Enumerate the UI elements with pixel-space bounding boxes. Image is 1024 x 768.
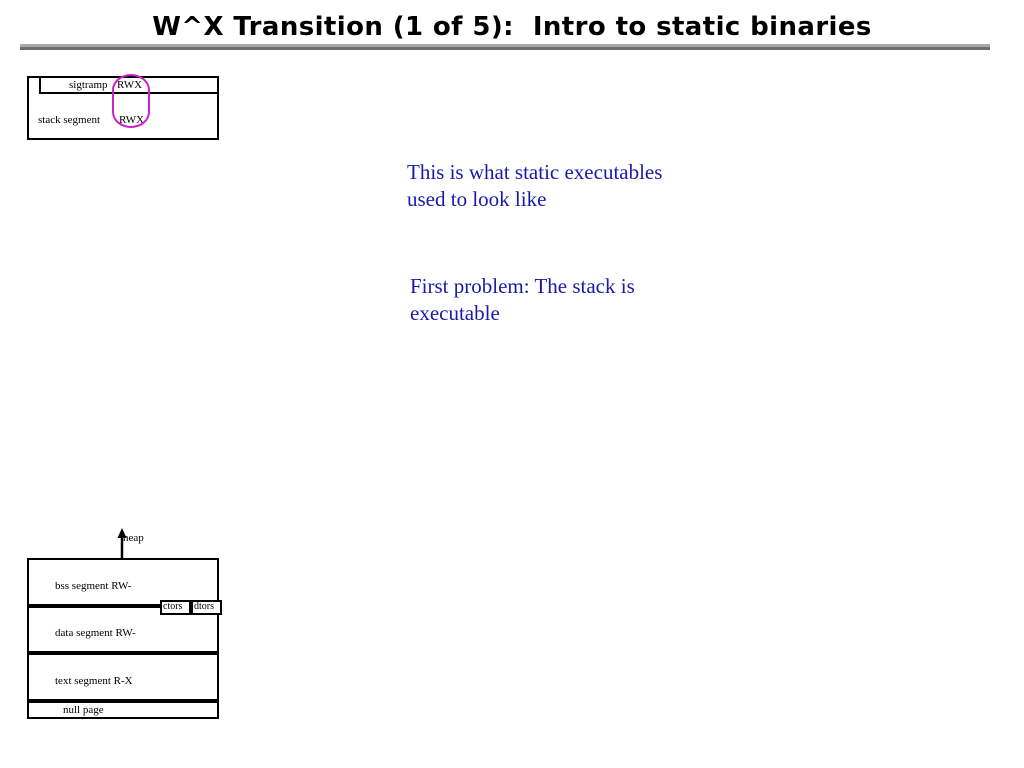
stack-segment-diagram: sigtramp RWX stack segment RWX <box>27 76 219 140</box>
null-page-label: null page <box>63 704 104 716</box>
bss-segment-label: bss segment RW- <box>55 580 131 592</box>
annotation-first-problem: First problem: The stack is executable <box>410 273 740 327</box>
dtors-label: dtors <box>194 601 214 612</box>
sigtramp-label: sigtramp <box>69 79 108 91</box>
title-divider <box>20 44 990 50</box>
text-segment-label: text segment R-X <box>55 675 133 687</box>
memory-layout-diagram: heap bss segment RW- data segment RW- te… <box>27 528 219 720</box>
page-title: W^X Transition (1 of 5): Intro to static… <box>0 12 1024 42</box>
title-divider-bottom <box>20 47 990 50</box>
sigtramp-permissions-label: RWX <box>117 79 142 91</box>
data-segment-label: data segment RW- <box>55 627 136 639</box>
annotation-static-executables: This is what static executables used to … <box>407 159 737 213</box>
null-page-box <box>27 701 219 719</box>
stack-segment-permissions-label: RWX <box>119 114 144 126</box>
ctors-label: ctors <box>163 601 182 612</box>
heap-label: heap <box>123 532 144 544</box>
stack-segment-label: stack segment <box>38 114 100 126</box>
